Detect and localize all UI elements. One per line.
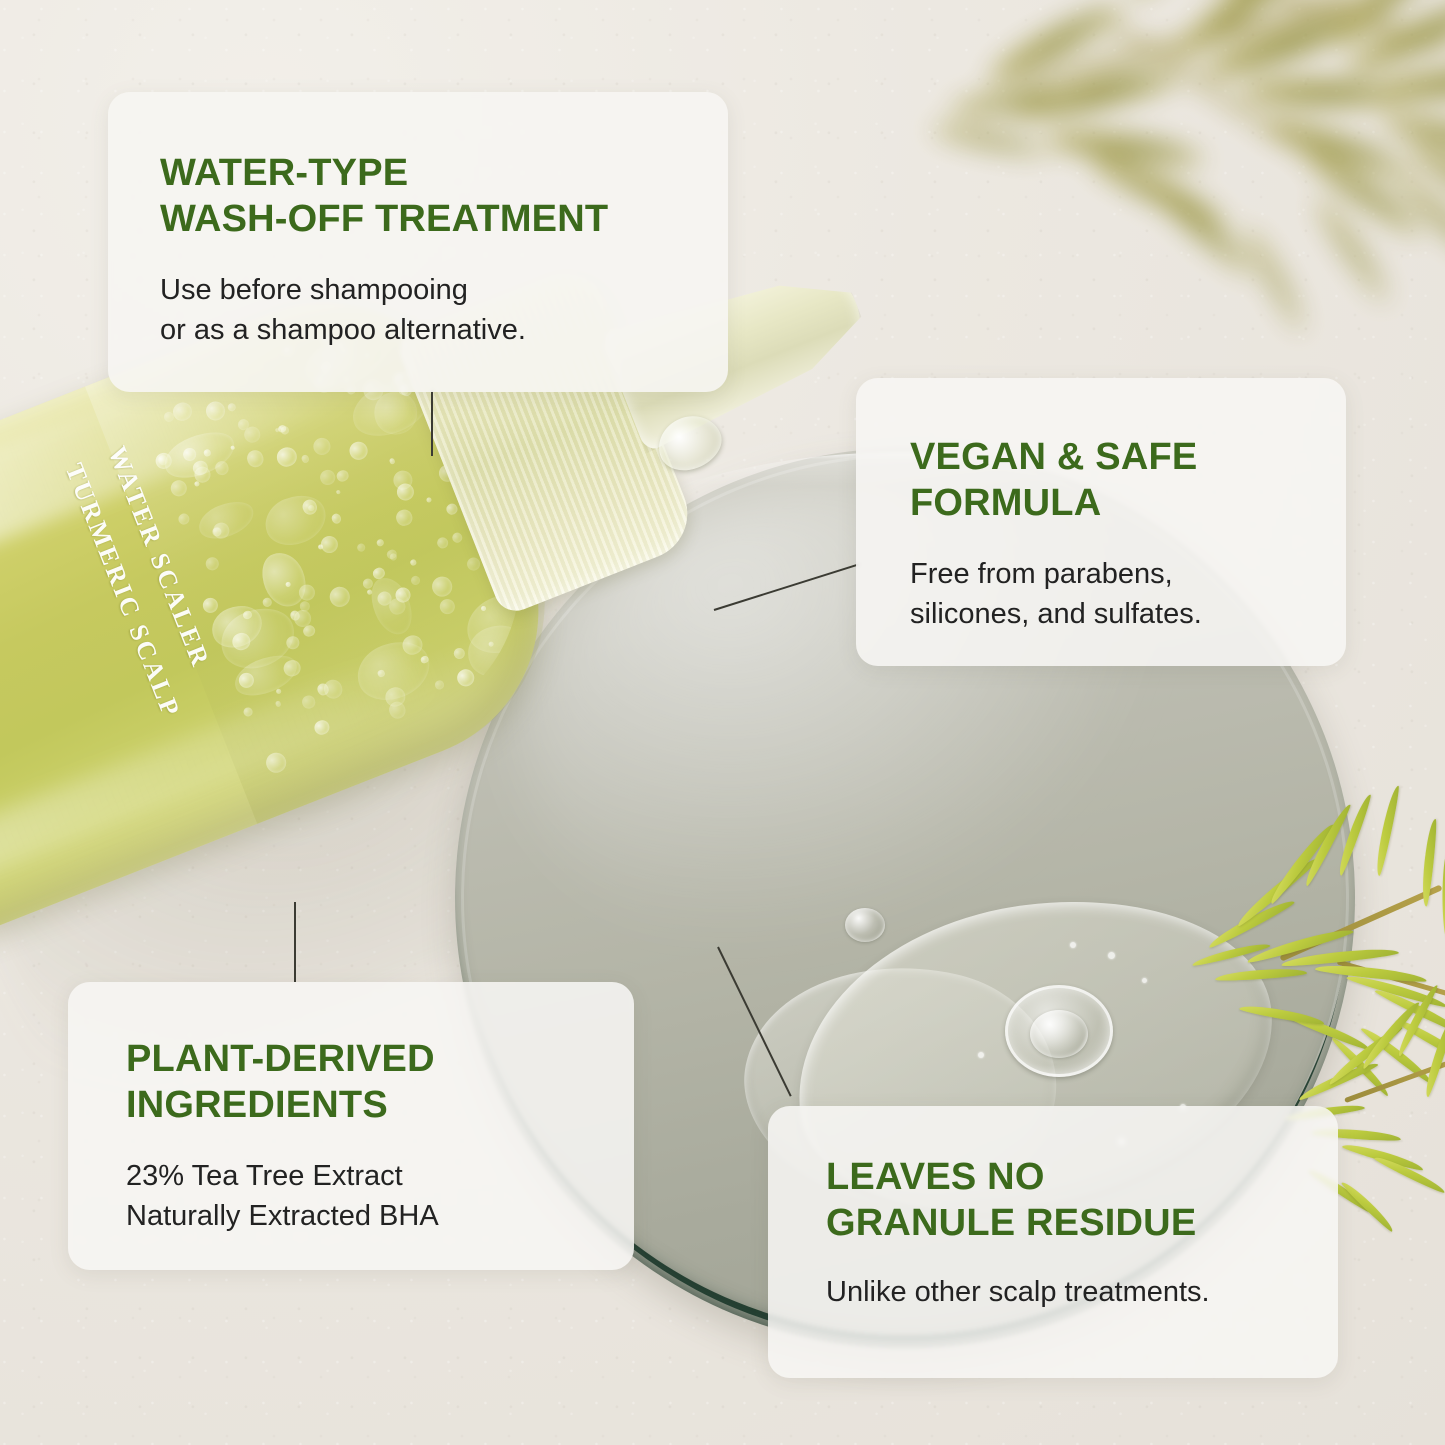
branch-leaf [1141, 171, 1260, 281]
product-infographic: Water, Turmeric Root Extract,Dissolution… [0, 0, 1445, 1445]
card-heading: WATER-TYPEWASH-OFF TREATMENT [160, 150, 728, 242]
branch-leaf [1369, 61, 1445, 104]
sprig-leaf [1266, 821, 1335, 906]
micro-bubble [1070, 942, 1076, 948]
branch-leaf [929, 118, 1051, 163]
card-body: Free from parabens,silicones, and sulfat… [910, 554, 1346, 634]
foam-bubble [453, 647, 467, 661]
micro-bubble [1142, 978, 1147, 983]
branch-leaf [1238, 222, 1311, 337]
callout-card-plant-derived[interactable]: PLANT-DERIVEDINGREDIENTS 23% Tea Tree Ex… [68, 982, 634, 1270]
foam-bubble [301, 694, 317, 710]
sprig-leaf [1340, 1179, 1396, 1233]
callout-card-water-type[interactable]: WATER-TYPEWASH-OFF TREATMENT Use before … [108, 92, 728, 392]
foam-bubble [434, 679, 445, 690]
micro-bubble [978, 1052, 984, 1058]
sprig-leaf [1420, 818, 1438, 906]
foam-bubble [455, 667, 477, 689]
connector-line-plant-derived [294, 902, 296, 982]
sprig-leaf [1335, 793, 1373, 877]
card-body: Use before shampooingor as a shampoo alt… [160, 270, 728, 350]
foam-bubble [263, 750, 289, 776]
card-body: 23% Tea Tree ExtractNaturally Extracted … [126, 1156, 634, 1236]
connector-line-water-type [431, 390, 433, 456]
card-heading: LEAVES NOGRANULE RESIDUE [826, 1154, 1338, 1246]
micro-bubble [1108, 952, 1115, 959]
callout-card-no-residue[interactable]: LEAVES NOGRANULE RESIDUE Unlike other sc… [768, 1106, 1338, 1378]
sprig-leaf [1341, 1141, 1424, 1173]
callout-card-vegan-safe[interactable]: VEGAN & SAFEFORMULA Free from parabens,s… [856, 378, 1346, 666]
bubble [1030, 1010, 1088, 1058]
sprig-leaf [1422, 1015, 1445, 1098]
sprig-leaf [1373, 1153, 1445, 1194]
foam-bubble [312, 718, 331, 737]
card-body: Unlike other scalp treatments. [826, 1272, 1338, 1312]
card-heading: VEGAN & SAFEFORMULA [910, 434, 1346, 526]
card-heading: PLANT-DERIVEDINGREDIENTS [126, 1036, 634, 1128]
blurred-branch-decoration [860, 0, 1445, 360]
sprig-leaf [1206, 896, 1295, 950]
bubble [845, 908, 885, 942]
